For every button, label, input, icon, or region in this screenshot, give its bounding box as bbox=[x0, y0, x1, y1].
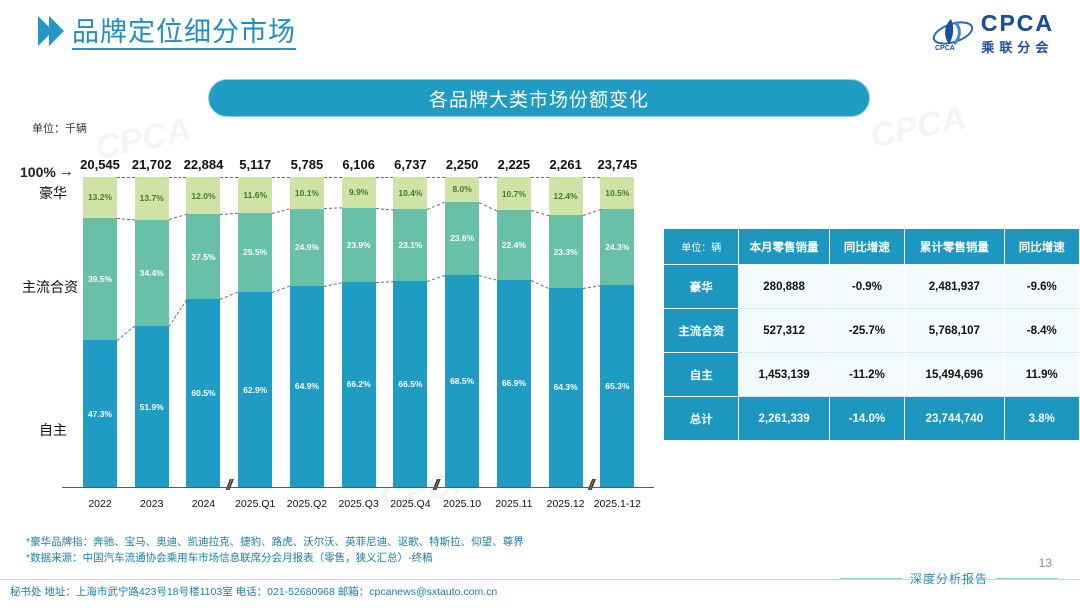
bar-segment-lux: 11.6% bbox=[238, 177, 272, 213]
bar-segment-mid: 24.3% bbox=[600, 209, 634, 284]
segment-connector-line bbox=[427, 275, 445, 282]
bar-segment-value: 66.9% bbox=[502, 378, 526, 388]
bar-segment-value: 11.6% bbox=[243, 190, 267, 200]
segment-connector-line bbox=[324, 282, 342, 287]
x-axis-tick-label: 2025.Q2 bbox=[287, 498, 327, 510]
bar-total-label: 21,702 bbox=[132, 157, 172, 172]
bar-segment-mid: 25.5% bbox=[238, 213, 272, 292]
page-number: 13 bbox=[1039, 556, 1052, 570]
arrow-right-icon: → bbox=[59, 163, 74, 180]
bar-segment-value: 51.9% bbox=[140, 402, 164, 412]
bar-column: 20,54513.2%39.5%47.3% bbox=[83, 177, 117, 487]
bar-column: 21,70213.7%34.4%51.9% bbox=[135, 177, 169, 487]
bar-segment-mid: 27.5% bbox=[186, 214, 220, 299]
logo-cpca-text: CPCA bbox=[981, 12, 1054, 35]
bar-segment-value: 23.1% bbox=[398, 240, 422, 250]
bar-column: 23,74510.5%24.3%65.3% bbox=[600, 177, 634, 487]
bar-segment-value: 10.1% bbox=[295, 188, 319, 198]
bar-total-label: 6,106 bbox=[342, 157, 375, 172]
segment-connector-line bbox=[427, 177, 445, 178]
segment-connector-line bbox=[583, 285, 601, 289]
footer-line-left bbox=[840, 578, 902, 579]
segment-connector-line bbox=[531, 210, 549, 216]
bar-segment-lux: 12.4% bbox=[549, 177, 583, 215]
segment-connector-line bbox=[272, 286, 290, 293]
table-cell-month-yoy: -14.0% bbox=[829, 397, 904, 441]
segment-connector-line bbox=[583, 177, 601, 178]
x-axis-tick-label: 2022 bbox=[88, 498, 111, 510]
bar-total-label: 2,225 bbox=[498, 157, 531, 172]
segment-connector-line bbox=[220, 292, 238, 300]
bar-segment-value: 66.2% bbox=[347, 379, 371, 389]
segment-connector-line bbox=[376, 208, 394, 211]
bar-segment-value: 64.3% bbox=[554, 382, 578, 392]
table-header-month-yoy: 同比增速 bbox=[829, 229, 904, 265]
bar-segment-self: 60.5% bbox=[186, 299, 220, 487]
bar-segment-mid: 34.4% bbox=[135, 220, 169, 327]
segment-connector-line bbox=[324, 208, 342, 210]
chart-unit-label: 单位：千辆 bbox=[32, 120, 87, 136]
page-title: 品牌定位细分市场 bbox=[72, 18, 296, 50]
table-cell-cum-sales: 15,494,696 bbox=[905, 353, 1004, 397]
x-axis-tick-label: 2025.12 bbox=[547, 498, 585, 510]
table-cell-month-sales: 1,453,139 bbox=[739, 353, 829, 397]
bar-segment-self: 64.3% bbox=[549, 288, 583, 487]
footer-brand-text: 深度分析报告 bbox=[910, 570, 988, 587]
bar-column: 6,1069.9%23.9%66.2% bbox=[342, 177, 376, 487]
bar-segment-value: 27.5% bbox=[191, 252, 215, 262]
table-total-row: 总计2,261,339-14.0%23,744,7403.8% bbox=[664, 397, 1080, 441]
bar-segment-value: 10.4% bbox=[398, 188, 422, 198]
bar-segment-value: 34.4% bbox=[140, 268, 164, 278]
segment-connector-line bbox=[220, 177, 238, 178]
segment-connector-line bbox=[324, 177, 342, 178]
summary-table: 单位：辆 本月零售销量 同比增速 累计零售销量 同比增速 豪华280,888-0… bbox=[663, 228, 1080, 441]
bar-segment-value: 9.9% bbox=[349, 187, 368, 197]
table-cell-month-sales: 527,312 bbox=[739, 309, 829, 353]
bar-column: 6,73710.4%23.1%66.5% bbox=[393, 177, 427, 487]
bar-segment-value: 25.5% bbox=[243, 247, 267, 257]
segment-connector-line bbox=[479, 275, 497, 281]
segment-connector-line bbox=[479, 202, 497, 211]
segment-connector-line bbox=[427, 202, 445, 210]
footer-contact: 秘书处 地址：上海市武宁路423号18号楼1103室 电话：021-526809… bbox=[10, 584, 497, 599]
segment-connector-line bbox=[117, 177, 135, 178]
segment-connector-line bbox=[220, 213, 238, 215]
bar-column: 2,2508.0%23.6%68.5% bbox=[445, 177, 479, 487]
table-row-label: 豪华 bbox=[664, 265, 739, 309]
bar-segment-mid: 23.1% bbox=[393, 209, 427, 281]
axis-100-percent-label: 100% → bbox=[20, 163, 74, 180]
table-header: 单位：辆 本月零售销量 同比增速 累计零售销量 同比增速 bbox=[664, 229, 1080, 265]
category-label-joint-venture: 主流合资 bbox=[22, 277, 78, 297]
table-body: 豪华280,888-0.9%2,481,937-9.6%主流合资527,312-… bbox=[664, 265, 1080, 441]
bar-column: 22,88412.0%27.5%60.5% bbox=[186, 177, 220, 487]
bar-segment-mid: 24.9% bbox=[290, 209, 324, 286]
bar-segment-lux: 13.2% bbox=[83, 177, 117, 218]
chart-plot-area: 20,54513.2%39.5%47.3%202221,70213.7%34.4… bbox=[75, 142, 637, 530]
chart-title-banner: 各品牌大类市场份额变化 bbox=[208, 79, 870, 117]
footnote-luxury-brands: *豪华品牌指：奔驰、宝马、奥迪、凯迪拉克、捷豹、路虎、沃尔沃、英菲尼迪、讴歌、特… bbox=[26, 534, 524, 550]
bar-segment-value: 24.3% bbox=[605, 242, 629, 252]
table-cell-cum-yoy: 11.9% bbox=[1004, 353, 1079, 397]
bar-segment-self: 65.3% bbox=[600, 285, 634, 487]
bar-segment-lux: 10.1% bbox=[290, 177, 324, 208]
svg-text:CPCA: CPCA bbox=[935, 45, 955, 52]
bar-segment-self: 66.5% bbox=[393, 281, 427, 487]
x-axis-tick-label: 2023 bbox=[140, 498, 163, 510]
bar-segment-value: 24.9% bbox=[295, 242, 319, 252]
bar-segment-self: 62.9% bbox=[238, 292, 272, 487]
table-cell-cum-sales: 2,481,937 bbox=[905, 265, 1004, 309]
table-row-label: 自主 bbox=[664, 353, 739, 397]
segment-connector-line bbox=[479, 177, 497, 178]
axis-break-mark: // bbox=[588, 477, 592, 494]
bar-segment-value: 10.5% bbox=[605, 188, 629, 198]
slide-title-group: 品牌定位细分市场 bbox=[38, 16, 296, 50]
table-cell-cum-sales: 5,768,107 bbox=[905, 309, 1004, 353]
table-cell-cum-yoy: -8.4% bbox=[1004, 309, 1079, 353]
bar-segment-value: 47.3% bbox=[88, 409, 112, 419]
table-cell-cum-yoy: -9.6% bbox=[1004, 265, 1079, 309]
segment-connector-line bbox=[531, 177, 549, 178]
summary-table-wrap: 单位：辆 本月零售销量 同比增速 累计零售销量 同比增速 豪华280,888-0… bbox=[663, 228, 1080, 441]
segment-connector-line bbox=[376, 177, 394, 178]
table-row-label: 总计 bbox=[664, 397, 739, 441]
table-cell-month-yoy: -11.2% bbox=[829, 353, 904, 397]
bar-segment-mid: 39.5% bbox=[83, 218, 117, 340]
bar-total-label: 22,884 bbox=[184, 157, 224, 172]
bar-total-label: 2,250 bbox=[446, 157, 479, 172]
bar-segment-value: 65.3% bbox=[605, 381, 629, 391]
x-axis-tick-label: 2025.Q4 bbox=[390, 498, 430, 510]
bar-segment-lux: 8.0% bbox=[445, 177, 479, 202]
bar-segment-lux: 12.0% bbox=[186, 177, 220, 214]
table-row: 主流合资527,312-25.7%5,768,107-8.4% bbox=[664, 309, 1080, 353]
bar-total-label: 23,745 bbox=[597, 157, 637, 172]
segment-connector-line bbox=[117, 326, 135, 341]
bar-segment-value: 23.3% bbox=[554, 247, 578, 257]
footer-line-right bbox=[996, 578, 1058, 579]
footnote-data-source: *数据来源：中国汽车流通协会乘用车市场信息联席分会月报表（零售，狭义汇总）-终稿 bbox=[26, 550, 524, 566]
bar-segment-value: 60.5% bbox=[191, 388, 215, 398]
bar-total-label: 2,261 bbox=[549, 157, 582, 172]
table-header-month-sales: 本月零售销量 bbox=[739, 229, 829, 265]
bar-segment-value: 64.9% bbox=[295, 381, 319, 391]
axis-break-mark: // bbox=[433, 477, 437, 494]
category-label-self-owned: 自主 bbox=[39, 420, 67, 440]
segment-connector-line bbox=[272, 177, 290, 178]
bar-segment-value: 62.9% bbox=[243, 385, 267, 395]
bar-segment-lux: 9.9% bbox=[342, 177, 376, 208]
axis-break-mark: // bbox=[226, 477, 230, 494]
bar-total-label: 20,545 bbox=[80, 157, 120, 172]
table-row-label: 主流合资 bbox=[664, 309, 739, 353]
table-cell-month-sales: 2,261,339 bbox=[739, 397, 829, 441]
table-cell-month-sales: 280,888 bbox=[739, 265, 829, 309]
table-header-unit: 单位：辆 bbox=[664, 229, 739, 265]
bar-column: 5,11711.6%25.5%62.9% bbox=[238, 177, 272, 487]
table-header-cum-yoy: 同比增速 bbox=[1004, 229, 1079, 265]
table-cell-cum-yoy: 3.8% bbox=[1004, 397, 1079, 441]
cpca-logo: CPCA CPCA 乘联分会 bbox=[931, 12, 1054, 56]
segment-connector-line bbox=[169, 177, 187, 178]
footer-brand: 深度分析报告 bbox=[840, 570, 1058, 587]
bar-segment-value: 22.4% bbox=[502, 240, 526, 250]
bar-segment-self: 64.9% bbox=[290, 286, 324, 487]
slide-header: 品牌定位细分市场 CPCA CPCA 乘联分会 bbox=[0, 0, 1080, 68]
bar-segment-value: 10.7% bbox=[502, 189, 526, 199]
bar-segment-value: 39.5% bbox=[88, 274, 112, 284]
bar-segment-self: 66.9% bbox=[497, 280, 531, 487]
bar-column: 2,22510.7%22.4%66.9% bbox=[497, 177, 531, 487]
segment-connector-line bbox=[169, 214, 187, 220]
table-header-cum-sales: 累计零售销量 bbox=[905, 229, 1004, 265]
table-row: 豪华280,888-0.9%2,481,937-9.6% bbox=[664, 265, 1080, 309]
table-cell-cum-sales: 23,744,740 bbox=[905, 397, 1004, 441]
bar-segment-self: 66.2% bbox=[342, 282, 376, 487]
table-row: 自主1,453,139-11.2%15,494,69611.9% bbox=[664, 353, 1080, 397]
bar-segment-self: 47.3% bbox=[83, 340, 117, 487]
table-header-row: 单位：辆 本月零售销量 同比增速 累计零售销量 同比增速 bbox=[664, 229, 1080, 265]
segment-connector-line bbox=[168, 300, 187, 327]
x-axis-tick-label: 2025.Q1 bbox=[235, 498, 275, 510]
bar-total-label: 5,785 bbox=[291, 157, 324, 172]
watermark: CPCA bbox=[867, 98, 969, 156]
bar-column: 2,26112.4%23.3%64.3% bbox=[549, 177, 583, 487]
bar-segment-value: 23.9% bbox=[347, 240, 371, 250]
category-label-luxury: 豪华 bbox=[39, 183, 67, 203]
bar-segment-mid: 23.6% bbox=[445, 202, 479, 275]
table-cell-month-yoy: -25.7% bbox=[829, 309, 904, 353]
bar-segment-value: 8.0% bbox=[452, 184, 471, 194]
bar-segment-self: 51.9% bbox=[135, 326, 169, 487]
cpca-swoosh-logo-icon: CPCA bbox=[931, 16, 975, 52]
bar-segment-value: 12.0% bbox=[191, 191, 215, 201]
segment-connector-line bbox=[117, 218, 135, 221]
x-axis-tick-label: 2025.10 bbox=[443, 498, 481, 510]
bar-segment-lux: 10.7% bbox=[497, 177, 531, 210]
bar-total-label: 5,117 bbox=[239, 157, 271, 172]
bar-segment-self: 68.5% bbox=[445, 275, 479, 487]
x-axis-tick-label: 2025.11 bbox=[495, 498, 532, 510]
cpca-logo-text: CPCA 乘联分会 bbox=[981, 12, 1054, 56]
bar-segment-lux: 10.5% bbox=[600, 177, 634, 210]
bar-total-label: 6,737 bbox=[394, 157, 427, 172]
footnotes: *豪华品牌指：奔驰、宝马、奥迪、凯迪拉克、捷豹、路虎、沃尔沃、英菲尼迪、讴歌、特… bbox=[26, 534, 524, 567]
table-cell-month-yoy: -0.9% bbox=[829, 265, 904, 309]
bar-segment-mid: 23.3% bbox=[549, 215, 583, 287]
market-share-chart: 单位：千辆 100% → 豪华 主流合资 自主 20,54513.2%39.5%… bbox=[0, 120, 680, 530]
bar-segment-mid: 23.9% bbox=[342, 208, 376, 282]
segment-connector-line bbox=[376, 281, 394, 283]
axis-100-text: 100% bbox=[20, 164, 56, 180]
bar-segment-lux: 13.7% bbox=[135, 177, 169, 219]
bar-segment-value: 12.4% bbox=[554, 191, 578, 201]
x-axis-tick-label: 2024 bbox=[192, 498, 215, 510]
segment-connector-line bbox=[531, 280, 549, 289]
bar-column: 5,78510.1%24.9%64.9% bbox=[290, 177, 324, 487]
x-axis-line bbox=[62, 487, 654, 488]
segment-connector-line bbox=[582, 210, 600, 217]
x-axis-tick-label: 2025.1-12 bbox=[594, 498, 641, 510]
bar-segment-value: 23.6% bbox=[450, 233, 474, 243]
bar-segment-lux: 10.4% bbox=[393, 177, 427, 209]
logo-sub-text: 乘联分会 bbox=[981, 37, 1053, 56]
x-axis-tick-label: 2025.Q3 bbox=[339, 498, 379, 510]
bar-segment-value: 68.5% bbox=[450, 376, 474, 386]
bar-segment-value: 13.7% bbox=[140, 193, 164, 203]
bar-segment-mid: 22.4% bbox=[497, 210, 531, 279]
slide-root: CPCA CPCA CPCA 品牌定位细分市场 CPCA CPCA 乘联分会 各… bbox=[0, 0, 1080, 613]
bar-segment-value: 13.2% bbox=[88, 192, 112, 202]
segment-connector-line bbox=[272, 208, 290, 214]
bar-segment-value: 66.5% bbox=[398, 379, 422, 389]
double-chevron-right-icon bbox=[38, 16, 64, 50]
